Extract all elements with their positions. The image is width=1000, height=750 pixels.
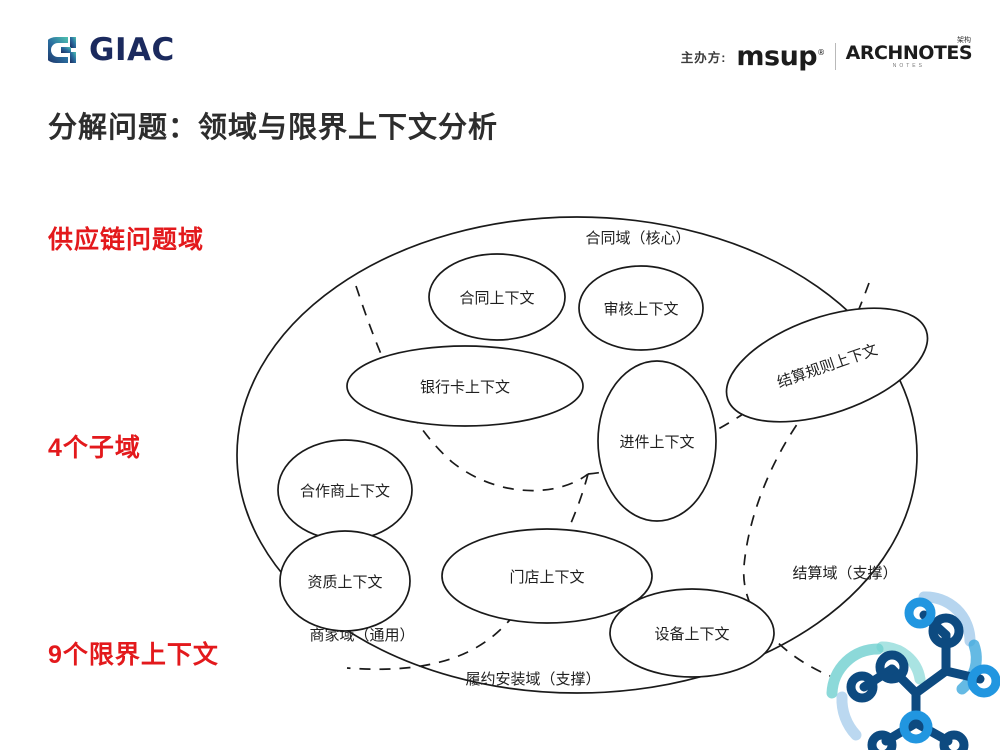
context-label: 门店上下文	[509, 569, 584, 586]
bounded-context-store: 门店上下文	[442, 529, 652, 623]
bounded-context-partner: 合作商上下文	[278, 440, 412, 540]
bounded-context-audit: 审核上下文	[579, 266, 703, 350]
bounded-context-contract: 合同上下文	[429, 254, 565, 340]
context-label: 进件上下文	[619, 434, 694, 451]
context-label: 银行卡上下文	[420, 379, 510, 396]
bounded-context-bankcard: 银行卡上下文	[347, 346, 583, 426]
bounded-context-device: 设备上下文	[610, 589, 774, 677]
subdomain-label-settlement: 结算域（支撑）	[792, 564, 897, 582]
context-label: 合同上下文	[459, 290, 534, 307]
bounded-context-qualification: 资质上下文	[280, 531, 410, 631]
subdomain-label-contract: 合同域（核心）	[585, 230, 690, 247]
context-label: 审核上下文	[603, 301, 678, 318]
domain-context-diagram: 合同域（核心） 商家域（通用） 履约安装域（支撑） 结算域（支撑） 合同上下文 …	[0, 0, 1000, 750]
context-label: 资质上下文	[307, 574, 382, 591]
context-label: 设备上下文	[654, 626, 729, 643]
subdomain-label-fulfillment: 履约安装域（支撑）	[465, 671, 600, 688]
context-label: 合作商上下文	[300, 483, 390, 500]
bounded-context-application: 进件上下文	[598, 361, 716, 521]
